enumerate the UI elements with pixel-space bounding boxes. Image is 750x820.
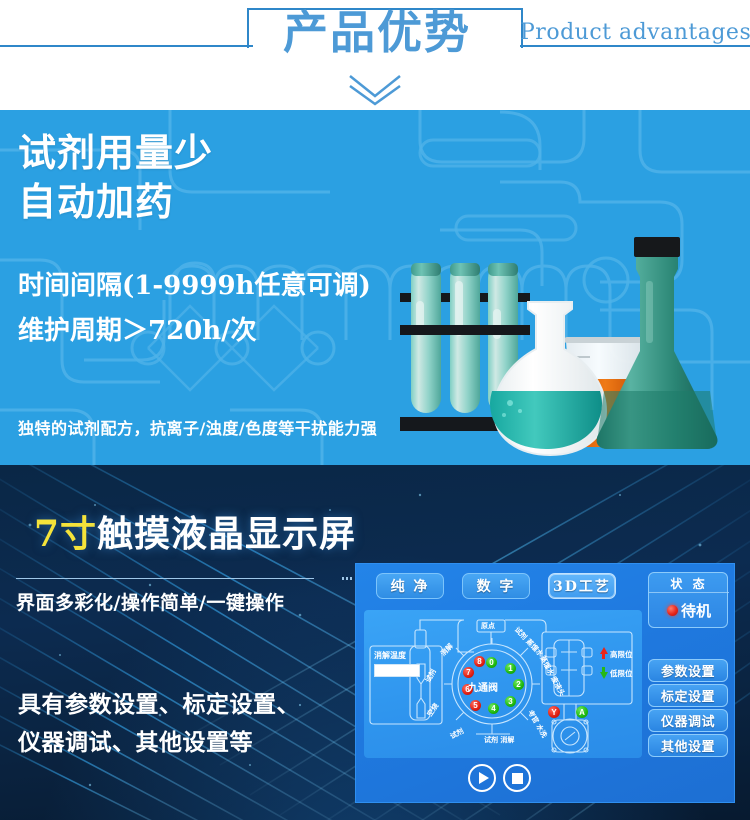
section2-title: 7寸触摸液晶显示屏 (34, 505, 356, 557)
section1-note: 独特的试剂配方，抗离子/浊度/色度等干扰能力强 (18, 415, 377, 439)
lcd-control-row (468, 764, 548, 796)
digestion-temperature-field[interactable] (374, 664, 420, 677)
page-header: 产品优势 Product advantages (0, 0, 750, 110)
tab-digital[interactable]: 数 字 (462, 573, 530, 599)
section1-subtitle: 时间间隔(1-9999h任意可调) 维护周期＞720h/次 (18, 264, 371, 354)
product-advantages-page: 产品优势 Product advantages (0, 0, 750, 820)
pump-badge-y[interactable]: Y (548, 706, 560, 718)
section2-body: 具有参数设置、标定设置、 仪器调试、其他设置等 (18, 686, 300, 762)
header-rule-right (520, 45, 750, 47)
status-title: 状 态 (649, 575, 729, 593)
process-diagram[interactable]: 0 1 2 3 4 5 6 7 8 九通阀 原点 消解 试剂 空烧 试剂 试剂 … (364, 610, 642, 758)
section2-title-rest: 触摸液晶显示屏 (97, 513, 356, 555)
down-arrow-stem (602, 667, 605, 672)
valve-port-1[interactable]: 1 (505, 663, 516, 674)
play-icon (479, 772, 489, 784)
valve-origin-label: 原点 (481, 622, 495, 630)
valve-name-label: 九通阀 (468, 679, 498, 694)
stop-icon (512, 773, 523, 784)
lab-glassware-illustration (400, 225, 750, 465)
play-button[interactable] (468, 764, 496, 792)
down-arrow-icon (600, 672, 608, 679)
up-arrow-stem (602, 654, 605, 659)
status-led-icon (667, 605, 678, 616)
valve-port-2[interactable]: 2 (513, 679, 524, 690)
menu-button-calibration-settings[interactable]: 标定设置 (648, 684, 728, 707)
valve-port-5[interactable]: 5 (470, 700, 481, 711)
double-chevron-down-icon (340, 72, 410, 106)
valve-port-3[interactable]: 3 (505, 696, 516, 707)
valve-port-4[interactable]: 4 (488, 703, 499, 714)
valve-port-7[interactable]: 7 (463, 667, 474, 678)
header-rule-left (0, 45, 253, 47)
lcd-tab-row: 纯 净 数 字 3D工艺 (370, 573, 670, 599)
section2-divider (16, 578, 340, 579)
tab-pure[interactable]: 纯 净 (376, 573, 444, 599)
up-arrow-icon (600, 647, 608, 654)
pump-badge-a[interactable]: A (576, 706, 588, 718)
limit-high-label: 高限位 (610, 649, 633, 660)
stop-button[interactable] (503, 764, 531, 792)
menu-button-instrument-debug[interactable]: 仪器调试 (648, 709, 728, 732)
page-title: 产品优势 (252, 5, 502, 61)
section1-title: 试剂用量少 自动加药 (18, 128, 213, 226)
feature-section-reagent: 试剂用量少 自动加药 时间间隔(1-9999h任意可调) 维护周期＞720h/次… (0, 110, 750, 465)
section2-subtitle: 界面多彩化/操作简单/一键操作 (16, 588, 284, 615)
valve-port-8[interactable]: 8 (474, 656, 485, 667)
valve-label-reagent-digest: 试剂 消解 (484, 736, 514, 744)
status-value: 待机 (681, 600, 711, 621)
status-value-row: 待机 (649, 597, 729, 623)
tab-3d-process[interactable]: 3D工艺 (548, 573, 616, 599)
valve-port-0[interactable]: 0 (486, 657, 497, 668)
page-title-english: Product advantages (520, 20, 748, 45)
lcd-touchscreen-panel: 纯 净 数 字 3D工艺 (355, 563, 735, 803)
menu-button-parameter-settings[interactable]: 参数设置 (648, 659, 728, 682)
section2-title-highlight: 7寸 (34, 513, 97, 555)
digestion-temperature-label: 消解温度 (374, 650, 406, 661)
limit-low-label: 低限位 (610, 668, 633, 679)
menu-button-other-settings[interactable]: 其他设置 (648, 734, 728, 757)
status-box: 状 态 待机 (648, 572, 728, 628)
